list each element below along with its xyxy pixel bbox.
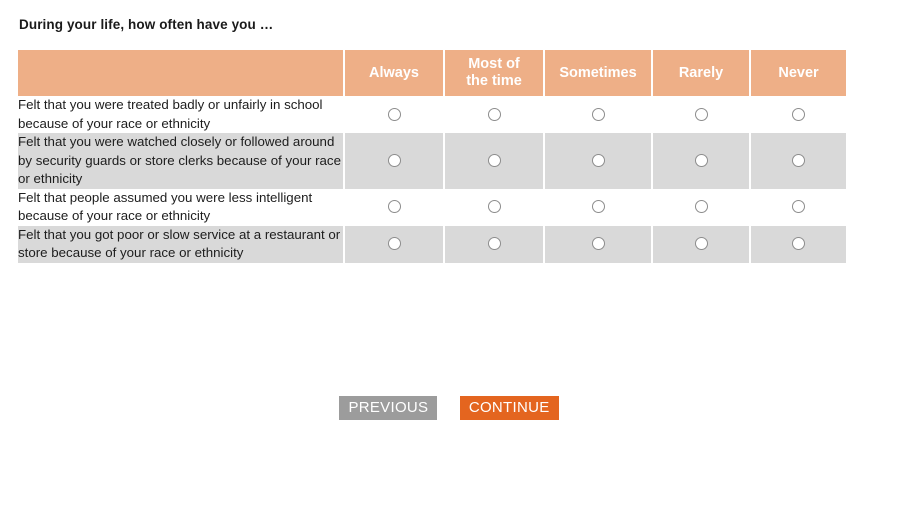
question-label-4: Felt that you got poor or slow service a…: [18, 226, 343, 263]
radio-button-icon[interactable]: [388, 237, 401, 250]
radio-cell-q4-most-of-the-time[interactable]: [443, 226, 543, 263]
radio-button-icon[interactable]: [488, 237, 501, 250]
radio-cell-q3-most-of-the-time[interactable]: [443, 189, 543, 226]
question-label-2: Felt that you were watched closely or fo…: [18, 133, 343, 189]
question-label-3: Felt that people assumed you were less i…: [18, 189, 343, 226]
radio-cell-q1-most-of-the-time[interactable]: [443, 96, 543, 133]
radio-cell-q3-sometimes[interactable]: [543, 189, 651, 226]
radio-cell-q4-rarely[interactable]: [651, 226, 749, 263]
radio-button-icon[interactable]: [488, 108, 501, 121]
matrix-body: Felt that you were treated badly or unfa…: [18, 96, 846, 263]
column-header-most-of-the-time: Most of the time: [443, 50, 543, 96]
radio-cell-q1-rarely[interactable]: [651, 96, 749, 133]
radio-button-icon[interactable]: [792, 200, 805, 213]
radio-cell-q3-always[interactable]: [343, 189, 443, 226]
previous-button[interactable]: PREVIOUS: [339, 396, 437, 420]
question-label-1: Felt that you were treated badly or unfa…: [18, 96, 343, 133]
column-header-sometimes: Sometimes: [543, 50, 651, 96]
radio-cell-q1-sometimes[interactable]: [543, 96, 651, 133]
table-row: Felt that you were treated badly or unfa…: [18, 96, 846, 133]
radio-button-icon[interactable]: [695, 200, 708, 213]
radio-button-icon[interactable]: [592, 200, 605, 213]
matrix-header: Always Most of the time Sometimes Rarely…: [18, 50, 846, 96]
radio-button-icon[interactable]: [488, 200, 501, 213]
radio-button-icon[interactable]: [388, 154, 401, 167]
page-title: During your life, how often have you …: [19, 17, 273, 32]
column-header-rarely: Rarely: [651, 50, 749, 96]
continue-button[interactable]: CONTINUE: [460, 396, 559, 420]
radio-button-icon[interactable]: [695, 108, 708, 121]
radio-button-icon[interactable]: [792, 154, 805, 167]
radio-button-icon[interactable]: [388, 108, 401, 121]
radio-cell-q4-never[interactable]: [749, 226, 846, 263]
radio-cell-q2-always[interactable]: [343, 133, 443, 189]
matrix-corner-cell: [18, 50, 343, 96]
table-row: Felt that you got poor or slow service a…: [18, 226, 846, 263]
radio-cell-q2-never[interactable]: [749, 133, 846, 189]
navigation-bar: PREVIOUS CONTINUE: [0, 396, 898, 420]
table-row: Felt that people assumed you were less i…: [18, 189, 846, 226]
radio-button-icon[interactable]: [695, 237, 708, 250]
radio-button-icon[interactable]: [388, 200, 401, 213]
radio-button-icon[interactable]: [792, 237, 805, 250]
radio-button-icon[interactable]: [695, 154, 708, 167]
radio-cell-q2-most-of-the-time[interactable]: [443, 133, 543, 189]
radio-button-icon[interactable]: [592, 154, 605, 167]
radio-button-icon[interactable]: [592, 237, 605, 250]
radio-cell-q1-never[interactable]: [749, 96, 846, 133]
radio-button-icon[interactable]: [488, 154, 501, 167]
matrix-header-row: Always Most of the time Sometimes Rarely…: [18, 50, 846, 96]
radio-cell-q3-never[interactable]: [749, 189, 846, 226]
column-header-never: Never: [749, 50, 846, 96]
column-header-line1: Most of: [468, 56, 520, 72]
radio-cell-q4-sometimes[interactable]: [543, 226, 651, 263]
radio-cell-q3-rarely[interactable]: [651, 189, 749, 226]
survey-matrix-table: Always Most of the time Sometimes Rarely…: [18, 50, 846, 263]
column-header-always: Always: [343, 50, 443, 96]
radio-cell-q1-always[interactable]: [343, 96, 443, 133]
radio-button-icon[interactable]: [792, 108, 805, 121]
radio-cell-q4-always[interactable]: [343, 226, 443, 263]
table-row: Felt that you were watched closely or fo…: [18, 133, 846, 189]
radio-cell-q2-sometimes[interactable]: [543, 133, 651, 189]
column-header-line2: the time: [466, 73, 522, 89]
survey-page: During your life, how often have you … A…: [0, 0, 898, 524]
radio-cell-q2-rarely[interactable]: [651, 133, 749, 189]
radio-button-icon[interactable]: [592, 108, 605, 121]
